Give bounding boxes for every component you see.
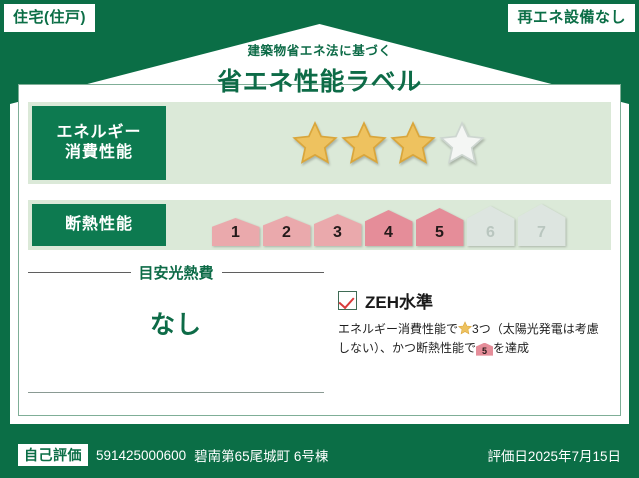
star-filled-icon: [292, 120, 338, 166]
inline-insulation-badge: 5: [476, 343, 493, 356]
zeh-description: エネルギー消費性能で 3つ（太陽光発電は考慮しない）、かつ断熱性能で5を達成: [338, 320, 604, 357]
renewable-equipment-tag: 再エネ設備なし: [508, 4, 635, 32]
utility-cost-value: なし: [28, 305, 324, 341]
label-heading: 建築物省エネ法に基づく 省エネ性能ラベル: [0, 40, 639, 98]
utility-cost-title: 目安光熱費: [139, 262, 214, 283]
star-filled-icon: [341, 120, 387, 166]
insulation-level-4-label: 4: [384, 224, 393, 242]
property-id: 591425000600: [96, 448, 186, 463]
energy-performance-label-box: エネルギー 消費性能: [32, 106, 166, 180]
footer-left-group: 自己評価 591425000600 碧南第65尾城町 6号棟: [18, 444, 487, 466]
star-filled-icon: [390, 120, 436, 166]
insulation-level-1: 1: [212, 218, 260, 246]
insulation-level-3-label: 3: [333, 224, 342, 242]
star-empty-icon: [439, 120, 485, 166]
utility-cost-section: 目安光熱費 なし: [28, 262, 324, 341]
zeh-desc-part1: エネルギー消費性能で: [338, 322, 458, 336]
zeh-desc-part2: 3つ（太陽光発電: [472, 322, 563, 336]
divider-right: [222, 272, 325, 273]
divider-left: [28, 272, 131, 273]
insulation-level-3: 3: [314, 214, 362, 246]
insulation-level-7-label: 7: [537, 224, 546, 242]
building-type-tag: 住宅(住戸): [4, 4, 95, 32]
label-footer: 自己評価 591425000600 碧南第65尾城町 6号棟 評価日2025年7…: [0, 432, 639, 478]
self-evaluation-badge: 自己評価: [18, 444, 88, 466]
insulation-level-5: 5: [416, 208, 464, 246]
energy-key-line1: エネルギー: [56, 123, 141, 143]
zeh-checkbox-checked-icon[interactable]: [338, 291, 357, 310]
insulation-level-2: 2: [263, 216, 311, 246]
energy-performance-label: 住宅(住戸) 再エネ設備なし 建築物省エネ法に基づく 省エネ性能ラベル エネルギ…: [0, 0, 639, 478]
zeh-desc-part4: を達成: [493, 341, 529, 355]
utility-cost-header: 目安光熱費: [28, 262, 324, 283]
property-address: 碧南第65尾城町 6号棟: [194, 445, 328, 465]
zeh-header: ZEH水準: [338, 288, 604, 313]
energy-performance-row: エネルギー 消費性能: [28, 102, 611, 184]
insulation-performance-row: 断熱性能 1 2 3 4 5 6: [28, 200, 611, 250]
page-title: 省エネ性能ラベル: [0, 62, 639, 98]
insulation-key-text: 断熱性能: [65, 215, 133, 235]
zeh-title: ZEH水準: [365, 288, 433, 313]
utility-cost-bottom-divider: [28, 392, 324, 393]
inline-star-icon: [458, 321, 472, 335]
insulation-level-7: 7: [518, 204, 566, 246]
energy-key-line2: 消費性能: [65, 143, 133, 163]
insulation-level-4: 4: [365, 210, 413, 246]
insulation-level-5-label: 5: [435, 224, 444, 242]
insulation-level-6: 6: [467, 206, 515, 246]
evaluation-date: 評価日2025年7月15日: [487, 445, 621, 465]
energy-star-rating: [166, 120, 611, 166]
insulation-performance-label-box: 断熱性能: [32, 204, 166, 246]
insulation-level-scale: 1 2 3 4 5 6 7: [166, 204, 611, 246]
insulation-level-1-label: 1: [231, 224, 240, 242]
insulation-level-6-label: 6: [486, 224, 495, 242]
insulation-level-2-label: 2: [282, 224, 291, 242]
zeh-section: ZEH水準 エネルギー消費性能で 3つ（太陽光発電は考慮しない）、かつ断熱性能で…: [338, 288, 604, 357]
heading-subtitle: 建築物省エネ法に基づく: [0, 40, 639, 59]
